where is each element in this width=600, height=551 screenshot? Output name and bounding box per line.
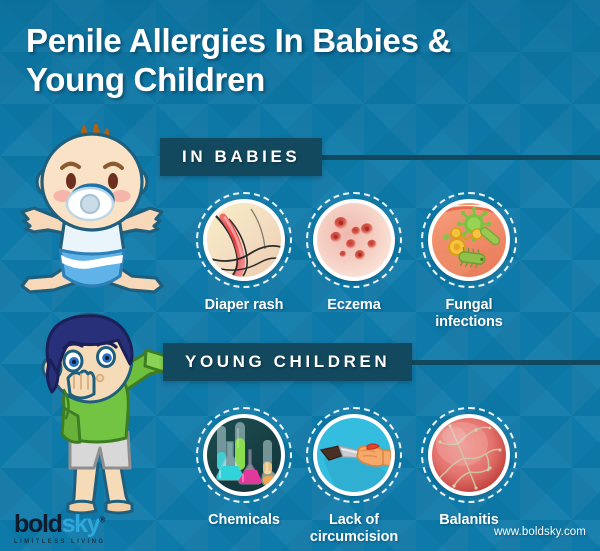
circumcision-icon xyxy=(317,418,391,492)
fungal-infections-circle xyxy=(421,192,517,288)
logo-bold-text: bold xyxy=(14,510,62,538)
page-title: Penile Allergies In Babies & Young Child… xyxy=(26,22,566,100)
site-url[interactable]: www.boldsky.com xyxy=(494,526,586,538)
boldsky-logo[interactable]: boldsky® LIMITLESS LIVING xyxy=(14,512,105,545)
section-banner-young-children: YOUNG CHILDREN xyxy=(163,343,600,381)
logo-registered-mark: ® xyxy=(99,516,104,525)
banner-label-babies: IN BABIES xyxy=(182,147,300,167)
circle-disc xyxy=(313,199,395,281)
diaper-rash-icon xyxy=(207,203,281,277)
item-label: Lack of circumcision xyxy=(299,512,409,546)
logo-sky-text: sky xyxy=(62,510,100,538)
eczema-circle xyxy=(306,192,402,288)
circle-disc xyxy=(203,199,285,281)
balanitis-circle xyxy=(421,407,517,503)
circle-disc xyxy=(428,414,510,496)
circumcision-circle xyxy=(306,407,402,503)
boy-illustration xyxy=(14,312,174,527)
circle-disc xyxy=(428,199,510,281)
item-fungal-infections[interactable]: Fungal infections xyxy=(414,192,524,331)
item-label: Fungal infections xyxy=(414,297,524,331)
item-lack-of-circumcision[interactable]: Lack of circumcision xyxy=(299,407,409,546)
diaper-rash-circle xyxy=(196,192,292,288)
fungal-infections-icon xyxy=(432,203,506,277)
chemicals-icon xyxy=(207,418,281,492)
banner-box-babies: IN BABIES xyxy=(160,138,322,176)
circle-disc xyxy=(203,414,285,496)
banner-label-young-children: YOUNG CHILDREN xyxy=(185,352,390,372)
item-balanitis[interactable]: Balanitis xyxy=(414,407,524,529)
logo-wordmark: boldsky® xyxy=(14,512,105,537)
baby-illustration xyxy=(8,124,176,319)
eczema-icon xyxy=(317,203,391,277)
item-label: Eczema xyxy=(299,297,409,314)
circle-disc xyxy=(313,414,395,496)
item-label: Diaper rash xyxy=(189,297,299,314)
item-chemicals[interactable]: Chemicals xyxy=(189,407,299,529)
banner-box-young-children: YOUNG CHILDREN xyxy=(163,343,412,381)
logo-tagline: LIMITLESS LIVING xyxy=(14,539,105,545)
item-label: Chemicals xyxy=(189,512,299,529)
chemicals-circle xyxy=(196,407,292,503)
page-title-line-2: Young Children xyxy=(26,61,566,100)
item-eczema[interactable]: Eczema xyxy=(299,192,409,314)
infographic-canvas: Penile Allergies In Babies & Young Child… xyxy=(0,0,600,551)
balanitis-icon xyxy=(432,418,506,492)
section-banner-babies: IN BABIES xyxy=(160,138,600,176)
item-diaper-rash[interactable]: Diaper rash xyxy=(189,192,299,314)
page-title-line-1: Penile Allergies In Babies & xyxy=(26,22,566,61)
